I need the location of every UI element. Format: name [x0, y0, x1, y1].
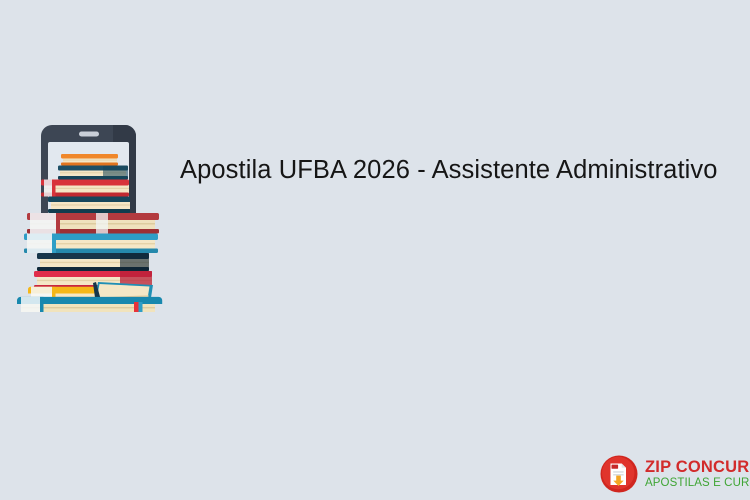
- logo-primary-text: ZIP CONCURSOS: [645, 459, 750, 476]
- bookmark-icon: [134, 302, 143, 312]
- book-lightblue-6: [24, 234, 158, 254]
- page-title: Apostila UFBA 2026 - Assistente Administ…: [180, 155, 720, 185]
- book-orange-top: [61, 154, 118, 166]
- book-navy-7: [37, 253, 149, 271]
- book-red-3: [41, 180, 129, 197]
- book-darkred-5: [27, 213, 159, 234]
- zip-concursos-logo[interactable]: ZIP CONCURSOS APOSTILAS E CURSOS: [600, 453, 740, 495]
- stack-of-books-with-tablet-illustration: [8, 122, 173, 312]
- logo-wordmark: ZIP CONCURSOS APOSTILAS E CURSOS: [645, 459, 750, 490]
- book-darkblue-2: [58, 166, 128, 180]
- book-darkteal-4: [48, 197, 130, 214]
- logo-secondary-text: APOSTILAS E CURSOS: [645, 478, 750, 490]
- pdf-download-badge-icon: [600, 455, 638, 493]
- book-bottom-teal-11: [17, 297, 162, 312]
- promo-banner: Apostila UFBA 2026 - Assistente Administ…: [0, 0, 750, 500]
